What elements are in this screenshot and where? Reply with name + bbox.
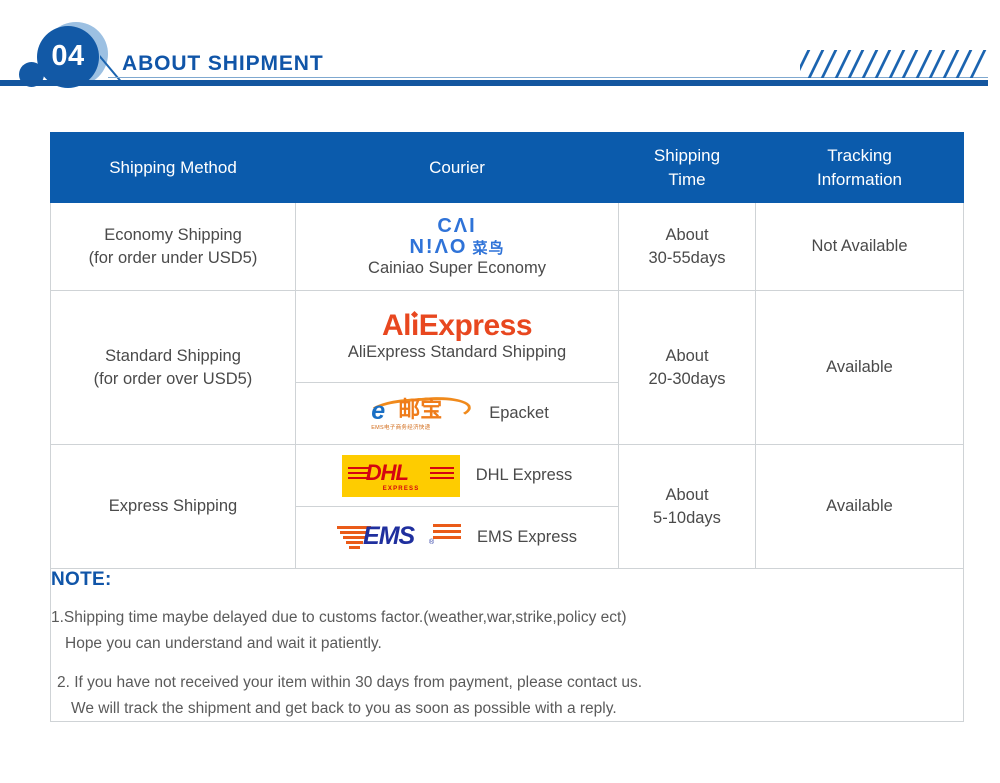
section-header: 04 ABOUT SHIPMENT (0, 0, 1000, 112)
ems-stripe-icon (433, 536, 461, 539)
dhl-logo: DHL EXPRESS (342, 455, 460, 497)
cell-courier-ems: EMS ® EMS Express (296, 507, 619, 569)
courier-name-ems: EMS Express (477, 528, 577, 547)
cell-courier-dhl: DHL EXPRESS DHL Express (296, 445, 619, 507)
column-header-tracking-information: Tracking Information (756, 133, 964, 203)
column-header-tracking-line1: Tracking (756, 144, 963, 168)
cainiao-logo-line2: N!ΛO (409, 237, 467, 257)
column-header-shipping-method: Shipping Method (51, 133, 296, 203)
shipping-table-container: Shipping Method Courier Shipping Time Tr… (50, 132, 963, 722)
cell-shipping-method-express: Express Shipping (51, 445, 296, 569)
ems-stripe-icon (433, 524, 461, 527)
courier-name-aliexpress: AliExpress Standard Shipping (348, 343, 566, 362)
ems-stripe-icon (349, 546, 360, 549)
courier-name-dhl: DHL Express (476, 466, 573, 485)
column-header-courier: Courier (296, 133, 619, 203)
method-note-economy: (for order under USD5) (57, 247, 289, 269)
aliexpress-logo: AliExpress (382, 311, 532, 341)
dhl-stripe-icon (430, 467, 454, 470)
note-row: NOTE: 1.Shipping time maybe delayed due … (51, 569, 964, 722)
cell-courier-epacket: e 邮宝 EMS电子商务经济快递 Epacket (296, 383, 619, 445)
note-section: NOTE: 1.Shipping time maybe delayed due … (51, 569, 964, 722)
epacket-logo-chinese: 邮宝 (398, 399, 442, 421)
note-item: 2. If you have not received your item wi… (51, 670, 963, 721)
note-item: 1.Shipping time maybe delayed due to cus… (51, 605, 963, 656)
courier-name-epacket: Epacket (489, 404, 549, 423)
column-header-shipping-time-line2: Time (619, 168, 755, 192)
epacket-logo-tagline: EMS电子商务经济快递 (371, 423, 430, 431)
method-name-economy: Economy Shipping (57, 224, 289, 246)
dhl-logo-text: DHL (366, 462, 408, 484)
shipping-time-express-line2: 5-10days (625, 507, 749, 529)
shipping-time-standard-line1: About (625, 345, 749, 367)
dhl-stripe-icon (430, 472, 454, 475)
header-rule-thick (0, 80, 988, 86)
cell-courier-aliexpress: AliExpress AliExpress Standard Shipping (296, 291, 619, 383)
epacket-logo: e 邮宝 EMS电子商务经济快递 (365, 395, 473, 433)
column-header-shipping-time: Shipping Time (619, 133, 756, 203)
table-row: Economy Shipping (for order under USD5) … (51, 203, 964, 291)
shipping-time-standard-line2: 20-30days (625, 368, 749, 390)
ems-logo-text: EMS (363, 524, 414, 549)
aliexpress-logo-text: AliExpress (382, 309, 532, 342)
cell-tracking-standard: Available (756, 291, 964, 445)
cainiao-logo-chinese: 菜鸟 (472, 241, 504, 256)
column-header-shipping-time-line1: Shipping (619, 144, 755, 168)
epacket-logo-e: e (371, 399, 385, 424)
ems-logo: EMS ® (337, 521, 461, 555)
note-item-line2: Hope you can understand and wait it pati… (51, 631, 963, 657)
shipping-time-express-line1: About (625, 484, 749, 506)
cell-tracking-express: Available (756, 445, 964, 569)
shipping-methods-table: Shipping Method Courier Shipping Time Tr… (50, 132, 964, 722)
courier-name-cainiao: Cainiao Super Economy (368, 259, 546, 278)
header-stripes-decoration (800, 50, 990, 78)
note-item-line1: 2. If you have not received your item wi… (57, 670, 963, 696)
cainiao-logo: CΛI N!ΛO 菜鸟 (409, 216, 504, 257)
table-row: Express Shipping DHL EXPRESS (51, 445, 964, 507)
ems-stripe-icon (433, 530, 461, 533)
shipping-time-economy-line1: About (625, 224, 749, 246)
cainiao-logo-line1: CΛI (437, 216, 476, 236)
table-header-row: Shipping Method Courier Shipping Time Tr… (51, 133, 964, 203)
method-name-express: Express Shipping (57, 495, 289, 517)
section-number-badge: 04 (37, 26, 99, 88)
cell-shipping-time-economy: About 30-55days (619, 203, 756, 291)
cell-shipping-method-standard: Standard Shipping (for order over USD5) (51, 291, 296, 445)
column-header-tracking-line2: Information (756, 168, 963, 192)
cell-courier-cainiao: CΛI N!ΛO 菜鸟 Cainiao Super Economy (296, 203, 619, 291)
note-item-line1: 1.Shipping time maybe delayed due to cus… (51, 605, 963, 631)
cell-tracking-economy: Not Available (756, 203, 964, 291)
shipping-time-economy-line2: 30-55days (625, 247, 749, 269)
cell-shipping-time-express: About 5-10days (619, 445, 756, 569)
cell-shipping-time-standard: About 20-30days (619, 291, 756, 445)
note-title: NOTE: (51, 569, 963, 591)
ems-logo-registered-icon: ® (429, 539, 434, 546)
cell-shipping-method-economy: Economy Shipping (for order under USD5) (51, 203, 296, 291)
note-item-line2: We will track the shipment and get back … (57, 696, 963, 722)
dhl-logo-subtext: EXPRESS (383, 486, 420, 492)
shipment-info-page: 04 ABOUT SHIPMENT Shipping Method Courie… (0, 0, 1000, 783)
method-name-standard: Standard Shipping (57, 345, 289, 367)
dhl-stripe-icon (430, 477, 454, 480)
section-number: 04 (51, 42, 84, 73)
ems-stripe-icon (346, 541, 363, 544)
table-row: Standard Shipping (for order over USD5) … (51, 291, 964, 383)
method-note-standard: (for order over USD5) (57, 368, 289, 390)
page-title: ABOUT SHIPMENT (122, 52, 324, 76)
